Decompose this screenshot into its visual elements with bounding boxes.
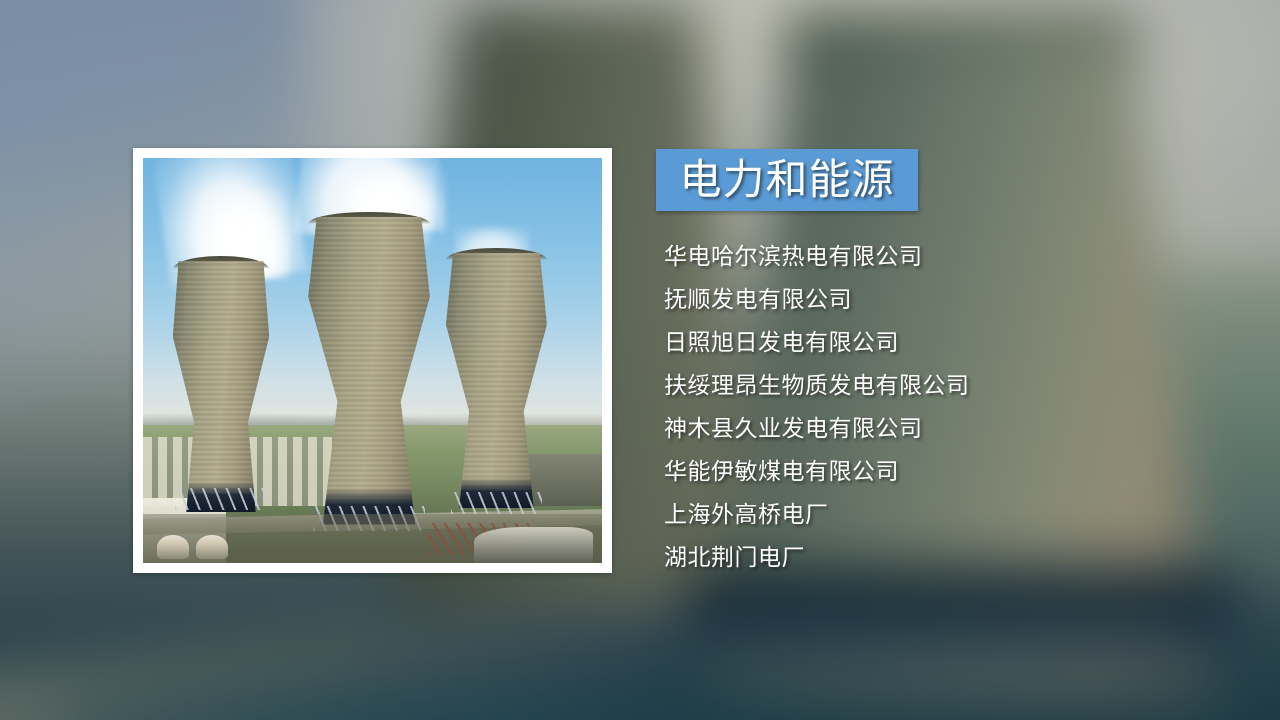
list-item: 神木县久业发电有限公司 (664, 408, 1224, 451)
page-title: 电力和能源 (679, 159, 894, 201)
photo-tower-left-legs (175, 488, 267, 510)
title-box: 电力和能源 (656, 149, 918, 211)
photo-card (133, 148, 612, 573)
power-plant-photo (143, 158, 602, 563)
photo-storage-tank-2 (196, 535, 228, 559)
company-list: 华电哈尔滨热电有限公司 抚顺发电有限公司 日照旭日发电有限公司 扶绥理昂生物质发… (664, 236, 1224, 580)
photo-storage-tank-1 (157, 535, 189, 559)
list-item: 湖北荆门电厂 (664, 537, 1224, 580)
list-item: 抚顺发电有限公司 (664, 279, 1224, 322)
list-item: 华电哈尔滨热电有限公司 (664, 236, 1224, 279)
list-item: 上海外高桥电厂 (664, 494, 1224, 537)
background-water-pool (60, 677, 793, 720)
list-item: 华能伊敏煤电有限公司 (664, 451, 1224, 494)
photo-pipe-structure (474, 527, 593, 563)
list-item: 日照旭日发电有限公司 (664, 322, 1224, 365)
photo-tower-right-legs (451, 492, 543, 514)
list-item: 扶绥理昂生物质发电有限公司 (664, 365, 1224, 408)
slide-canvas: 电力和能源 华电哈尔滨热电有限公司 抚顺发电有限公司 日照旭日发电有限公司 扶绥… (0, 0, 1280, 720)
